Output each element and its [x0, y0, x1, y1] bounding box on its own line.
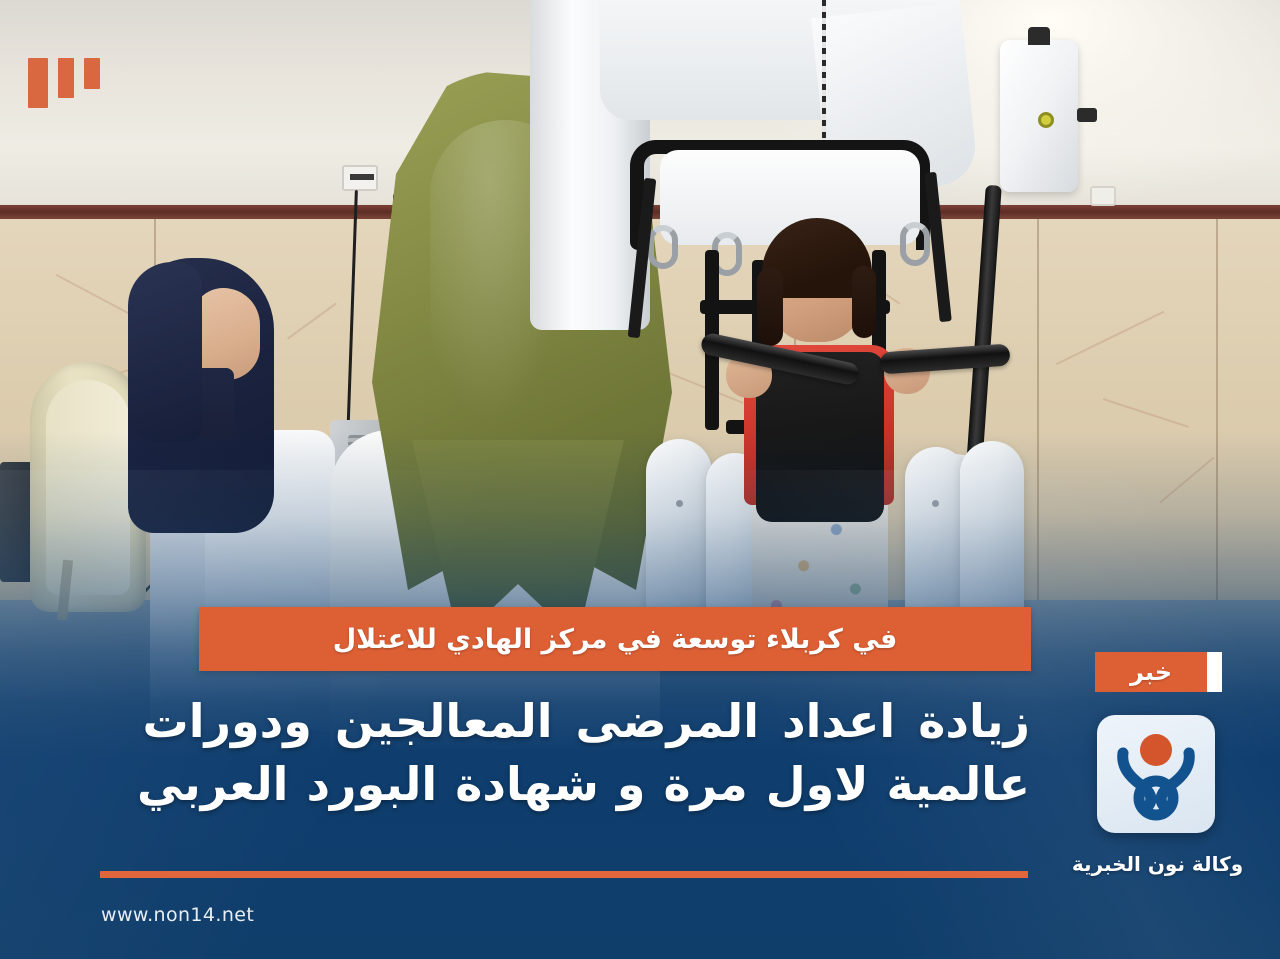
- bar-3: [84, 58, 100, 89]
- control-box-port-icon: [1077, 108, 1097, 122]
- headline-line-2: عالمية لاول مرة و شهادة البورد العربي: [100, 753, 1030, 816]
- harness-hook-left-icon: [648, 225, 678, 269]
- control-box-indicator-icon: [1038, 112, 1054, 128]
- news-card: في كربلاء توسعة في مركز الهادي للاعتلال …: [0, 0, 1280, 959]
- headline: زيادة اعداد المرضى المعالجين ودورات عالم…: [100, 690, 1030, 816]
- wall-socket-right-icon: [1090, 186, 1116, 206]
- bar-1: [28, 58, 48, 108]
- seated-woman-face: [192, 288, 260, 380]
- logo-dot: [1140, 734, 1172, 766]
- child-hair-left: [757, 268, 783, 346]
- noon-agency-logo-icon[interactable]: [1097, 715, 1215, 833]
- seated-woman-hijab-front: [128, 262, 202, 442]
- kicker-text: في كربلاء توسعة في مركز الهادي للاعتلال: [333, 624, 898, 655]
- wall-socket-icon: [342, 165, 378, 191]
- agency-name: وكالة نون الخبرية: [1060, 852, 1255, 876]
- orange-divider: [100, 871, 1028, 878]
- website-url[interactable]: www.non14.net: [101, 904, 254, 926]
- control-box-knob-icon: [1028, 27, 1050, 45]
- kicker-banner: في كربلاء توسعة في مركز الهادي للاعتلال: [199, 607, 1031, 671]
- headline-line-1: زيادة اعداد المرضى المعالجين ودورات: [100, 690, 1030, 753]
- harness-hook-right-icon: [900, 222, 930, 266]
- gait-trainer-cable: [822, 0, 826, 150]
- child-hair-right: [852, 266, 876, 338]
- news-badge: خبر: [1095, 652, 1207, 692]
- three-bar-logo-icon: [28, 58, 100, 108]
- news-badge-tab: [1207, 652, 1222, 692]
- bar-2: [58, 58, 74, 98]
- news-badge-label: خبر: [1130, 658, 1172, 686]
